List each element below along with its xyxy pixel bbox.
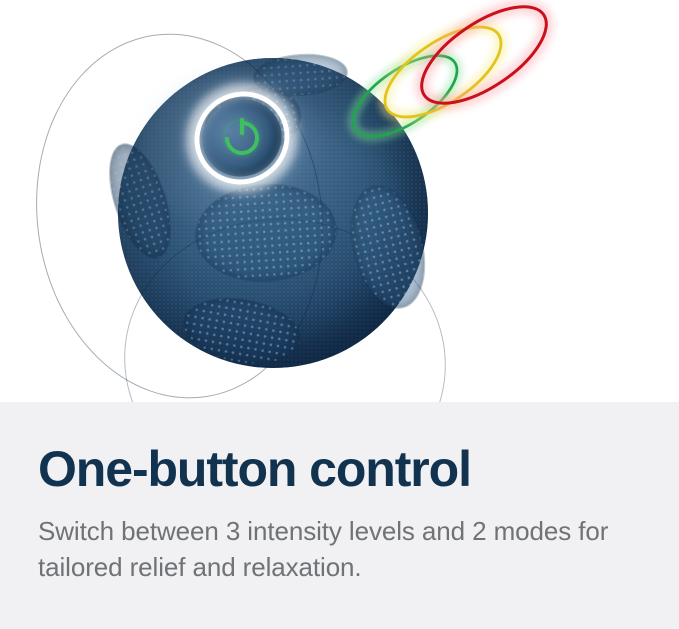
caption-panel: One-button control Switch between 3 inte… [0,402,679,629]
feature-headline: One-button control [38,442,648,496]
intensity-ring-red [406,0,561,122]
caption-content: One-button control Switch between 3 inte… [38,442,648,586]
product-image-area [0,0,679,402]
feature-description: Switch between 3 intensity levels and 2 … [38,513,638,586]
massage-ball [118,58,428,368]
power-icon-bar [240,118,244,135]
feature-callout-card: One-button control Switch between 3 inte… [0,0,679,629]
power-symbol-icon [225,121,259,155]
